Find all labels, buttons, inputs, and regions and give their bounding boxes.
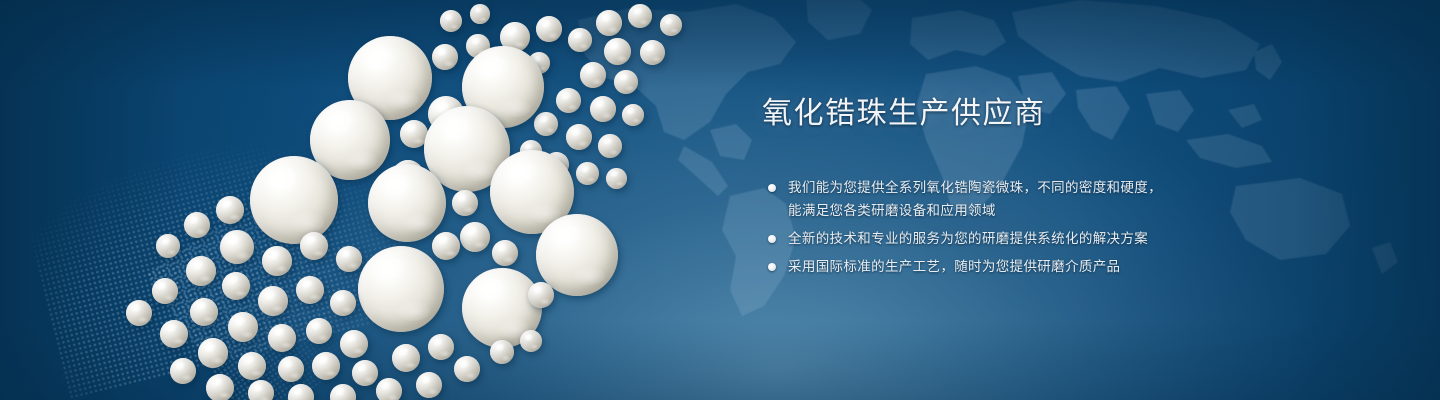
bullet-line-2: 能满足您各类研磨设备和应用领域 [788, 199, 1232, 222]
banner-content: 氧化锆珠生产供应商 我们能为您提供全系列氧化锆陶瓷微珠，不同的密度和硬度， 能满… [762, 96, 1232, 283]
page-title: 氧化锆珠生产供应商 [762, 96, 1232, 132]
dot-bullet-icon [768, 235, 776, 243]
bullet-line-1: 采用国际标准的生产工艺，随时为您提供研磨介质产品 [788, 259, 1120, 274]
dot-bullet-icon [768, 263, 776, 271]
feature-list: 我们能为您提供全系列氧化锆陶瓷微珠，不同的密度和硬度， 能满足您各类研磨设备和应… [762, 176, 1232, 278]
dot-bullet-icon [768, 184, 776, 192]
hero-banner: 氧化锆珠生产供应商 我们能为您提供全系列氧化锆陶瓷微珠，不同的密度和硬度， 能满… [0, 0, 1440, 400]
zirconia-beads-cluster [0, 0, 760, 400]
bullet-line-1: 我们能为您提供全系列氧化锆陶瓷微珠，不同的密度和硬度， [788, 180, 1162, 195]
bullet-line-1: 全新的技术和专业的服务为您的研磨提供系统化的解决方案 [788, 231, 1148, 246]
list-item: 采用国际标准的生产工艺，随时为您提供研磨介质产品 [762, 255, 1232, 278]
list-item: 我们能为您提供全系列氧化锆陶瓷微珠，不同的密度和硬度， 能满足您各类研磨设备和应… [762, 176, 1232, 222]
list-item: 全新的技术和专业的服务为您的研磨提供系统化的解决方案 [762, 227, 1232, 250]
